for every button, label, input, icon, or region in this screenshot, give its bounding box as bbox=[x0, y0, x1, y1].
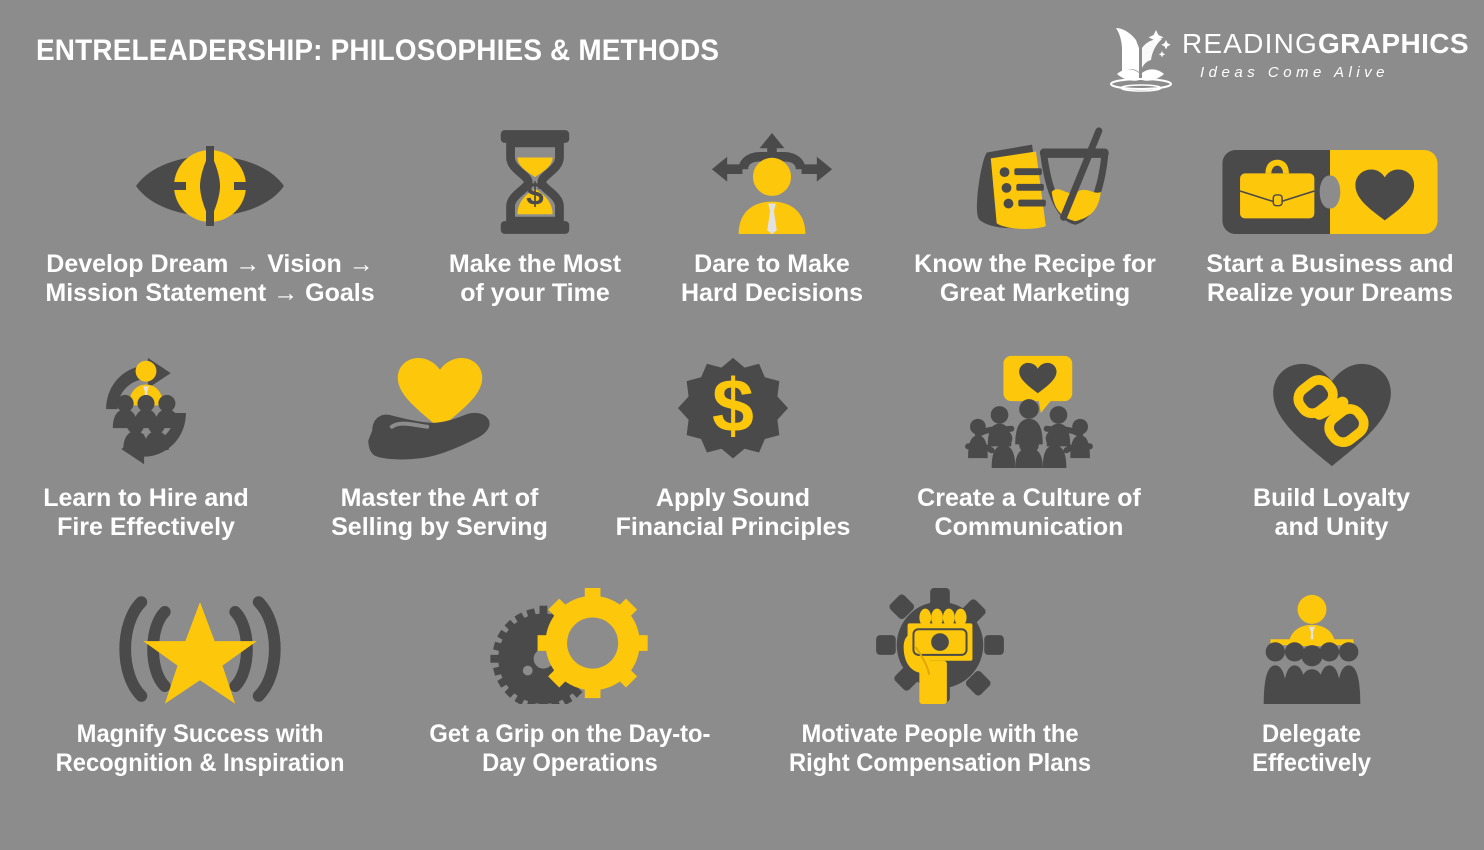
items-row-1: Develop Dream → Vision → Mission Stateme… bbox=[0, 118, 1484, 328]
icon-container bbox=[298, 350, 581, 468]
svg-text:$: $ bbox=[712, 363, 754, 447]
decision-arrows-person-icon bbox=[710, 131, 834, 236]
hiring-cycle-icon bbox=[89, 356, 203, 468]
item-financial-principles[interactable]: $ Apply Sound Financial Principles bbox=[587, 350, 879, 565]
heart-chain-icon bbox=[1269, 360, 1395, 468]
briefcase-heart-puzzle-icon bbox=[1221, 148, 1439, 236]
hand-heart-icon bbox=[366, 358, 514, 468]
infographic-canvas: ENTRELEADERSHIP: PHILOSOPHIES & METHODS bbox=[0, 0, 1484, 850]
page-title: ENTRELEADERSHIP: PHILOSOPHIES & METHODS bbox=[36, 34, 719, 68]
item-label: Delegate Effectively bbox=[1253, 720, 1372, 778]
item-recipe-marketing[interactable]: Know the Recipe for Great Marketing bbox=[894, 118, 1176, 328]
two-gears-icon bbox=[486, 588, 654, 704]
item-label: Develop Dream → Vision → Mission Stateme… bbox=[45, 250, 374, 308]
logo-word-reading: READING bbox=[1182, 28, 1318, 59]
item-start-business[interactable]: Start a Business and Realize your Dreams bbox=[1176, 118, 1484, 328]
item-label: Build Loyalty and Unity bbox=[1253, 484, 1410, 542]
logo-wordmark: READINGGRAPHICS bbox=[1182, 28, 1469, 60]
items-row-2: Learn to Hire and Fire Effectively Maste… bbox=[0, 350, 1484, 565]
item-delegate-effectively[interactable]: Delegate Effectively bbox=[1140, 588, 1484, 818]
item-label: Apply Sound Financial Principles bbox=[616, 484, 851, 542]
items-row-3: Magnify Success with Recognition & Inspi… bbox=[0, 588, 1484, 818]
org-chart-delegate-icon bbox=[1244, 592, 1380, 704]
icon-container bbox=[1146, 588, 1478, 704]
item-label: Dare to Make Hard Decisions bbox=[681, 250, 863, 308]
icon-container bbox=[6, 588, 394, 704]
icon-container bbox=[406, 588, 734, 704]
icon-container bbox=[1185, 350, 1478, 468]
logo-tagline: Ideas Come Alive bbox=[1200, 64, 1389, 81]
item-culture-communication[interactable]: Create a Culture of Communication bbox=[879, 350, 1179, 565]
brand-logo: READINGGRAPHICS Ideas Come Alive bbox=[1100, 22, 1440, 96]
hand-money-gear-icon bbox=[876, 588, 1004, 704]
hourglass-money-icon: $ bbox=[491, 128, 579, 236]
item-magnify-success[interactable]: Magnify Success with Recognition & Inspi… bbox=[0, 588, 400, 818]
icon-container bbox=[1182, 118, 1478, 236]
people-circle-speech-heart-icon bbox=[960, 352, 1098, 468]
icon-container bbox=[885, 350, 1173, 468]
item-label: Know the Recipe for Great Marketing bbox=[914, 250, 1156, 308]
item-hire-fire[interactable]: Learn to Hire and Fire Effectively bbox=[0, 350, 292, 565]
item-label: Motivate People with the Right Compensat… bbox=[789, 720, 1091, 778]
icon-container bbox=[900, 118, 1170, 236]
logo-word-graphics: GRAPHICS bbox=[1318, 28, 1469, 59]
item-label: Magnify Success with Recognition & Inspi… bbox=[56, 720, 345, 778]
item-hard-decisions[interactable]: Dare to Make Hard Decisions bbox=[650, 118, 894, 328]
item-label: Start a Business and Realize your Dreams bbox=[1206, 250, 1453, 308]
item-label: Create a Culture of Communication bbox=[917, 484, 1141, 542]
item-loyalty-unity[interactable]: Build Loyalty and Unity bbox=[1179, 350, 1484, 565]
icon-container: $ bbox=[426, 118, 644, 236]
svg-text:$: $ bbox=[526, 176, 543, 211]
icon-container: $ bbox=[593, 350, 873, 468]
header: ENTRELEADERSHIP: PHILOSOPHIES & METHODS bbox=[0, 0, 1484, 118]
item-develop-dream[interactable]: Develop Dream → Vision → Mission Stateme… bbox=[0, 118, 420, 328]
icon-container bbox=[6, 350, 286, 468]
item-label: Learn to Hire and Fire Effectively bbox=[43, 484, 249, 542]
item-compensation-plans[interactable]: Motivate People with the Right Compensat… bbox=[740, 588, 1140, 818]
item-label: Master the Art of Selling by Serving bbox=[331, 484, 548, 542]
icon-container bbox=[746, 588, 1134, 704]
eye-target-icon bbox=[130, 136, 290, 236]
gear-dollar-icon: $ bbox=[677, 356, 789, 468]
star-broadcast-icon bbox=[112, 594, 288, 704]
item-day-to-day-operations[interactable]: Get a Grip on the Day-to- Day Operations bbox=[400, 588, 740, 818]
recipe-bowl-whisk-icon bbox=[961, 123, 1109, 236]
item-selling-serving[interactable]: Master the Art of Selling by Serving bbox=[292, 350, 587, 565]
icon-container bbox=[6, 118, 414, 236]
item-label: Get a Grip on the Day-to- Day Operations bbox=[429, 720, 710, 778]
open-book-sparkle-icon bbox=[1106, 26, 1176, 92]
item-label: Make the Most of your Time bbox=[449, 250, 621, 308]
item-make-most-time[interactable]: $ Make the Most of your Time bbox=[420, 118, 650, 328]
icon-container bbox=[656, 118, 888, 236]
